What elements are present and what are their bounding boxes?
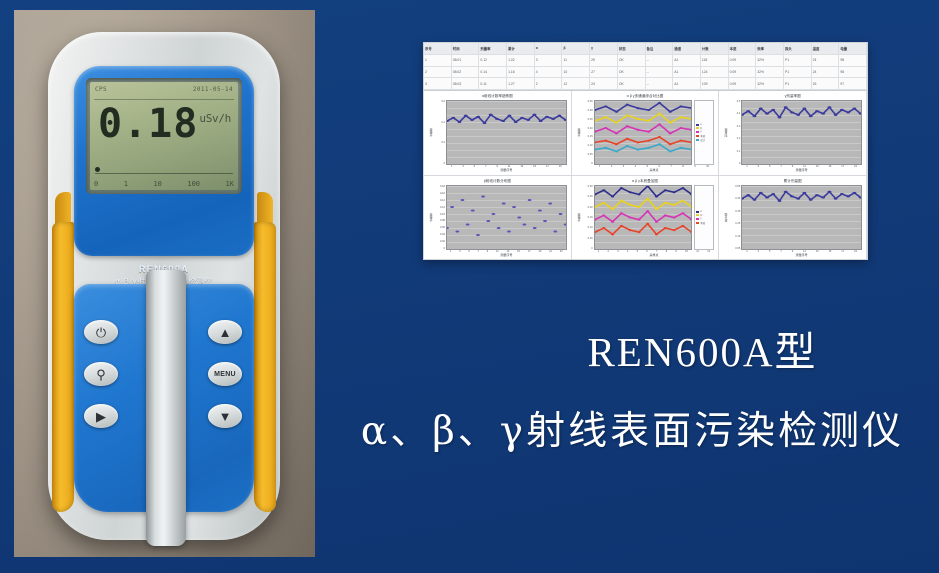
chart-y-tick: 0.3 — [737, 125, 741, 128]
chart-data-point — [853, 192, 857, 194]
light-button[interactable]: ⚲ — [84, 362, 118, 386]
spreadsheet-header-cell[interactable]: 电量 — [839, 43, 867, 54]
chart-y-tick: 0.12 — [440, 206, 445, 209]
spreadsheet-header-cell[interactable]: 剂量率 — [479, 43, 507, 54]
spreadsheet-cell[interactable]: 24 — [812, 67, 840, 78]
chart-data-point — [778, 200, 782, 202]
chart-data-point — [543, 220, 547, 222]
spreadsheet-row: 108:010.121.0231125OK--A11180.0932%P1249… — [424, 55, 867, 67]
spreadsheet-header-cell[interactable]: β — [562, 43, 590, 54]
spreadsheet-cell[interactable]: -- — [646, 67, 674, 78]
chart-y-axis-label: 剂量率 — [723, 100, 729, 165]
chart-data-point — [628, 204, 631, 206]
spreadsheet-cell[interactable]: A1 — [673, 67, 701, 78]
spreadsheet-cell[interactable]: A1 — [673, 55, 701, 66]
chart-data-point — [604, 140, 607, 142]
chart-data-point — [636, 129, 639, 131]
chart-y-ticks: 0.50.40.30.20.10 — [729, 100, 741, 165]
chart-data-point — [491, 213, 495, 215]
chart-data-point — [604, 147, 607, 149]
chart-data-point — [672, 216, 675, 218]
chart-data-point — [753, 115, 757, 117]
legend-swatch-icon — [696, 135, 699, 137]
spreadsheet-cell[interactable]: 0.09 — [729, 78, 757, 89]
chart-data-point — [620, 200, 623, 202]
chart-y-tick: 0.04 — [440, 233, 445, 236]
chart-data-point — [517, 216, 521, 218]
spreadsheet-row: 308:030.111.2721224OK--A11090.0932%P1259… — [424, 78, 867, 90]
chart-data-point — [615, 132, 618, 134]
chart-data-point — [658, 123, 661, 125]
chart-data-point — [647, 147, 650, 149]
spreadsheet-cell[interactable]: 0.14 — [479, 67, 507, 78]
chart-plot-area — [446, 100, 567, 165]
chart-data-point — [455, 230, 459, 232]
chart-alpha-count: α射线计数率趋势图计数率0.60.40.20135791113151719测量序… — [424, 91, 572, 176]
chart-data-point — [672, 204, 675, 206]
spreadsheet-cell[interactable]: 25 — [590, 55, 618, 66]
chart-series-line — [595, 144, 692, 151]
chart-data-point — [672, 229, 675, 231]
chart-y-tick: 0 — [444, 162, 445, 165]
spreadsheet-cell[interactable]: P1 — [784, 78, 812, 89]
chart-data-point — [553, 230, 557, 232]
menu-button-label: MENU — [214, 371, 236, 378]
chart-data-point — [625, 125, 628, 127]
chart-data-point — [840, 109, 844, 111]
chart-plot-area — [594, 185, 693, 250]
chart-panel-grid: α射线计数率趋势图计数率0.60.40.20135791113151719测量序… — [424, 91, 867, 260]
legend-swatch-icon — [696, 218, 699, 220]
chart-data-point — [528, 199, 532, 201]
chart-data-point — [797, 198, 801, 200]
chart-data-point — [853, 108, 857, 110]
chart-body: 计数率0.300.250.200.150.100.050αβγ本底 — [576, 185, 715, 250]
chart-data-point — [840, 193, 844, 195]
spreadsheet-header-cell[interactable]: α — [535, 43, 563, 54]
rubber-grip-left — [52, 222, 74, 512]
spreadsheet-cell[interactable]: 3 — [424, 78, 452, 89]
chart-plot-area — [741, 100, 862, 165]
legend-swatch-icon — [696, 222, 699, 224]
chart-y-tick: 0.25 — [588, 118, 593, 121]
chart-y-axis-label: 计数率 — [576, 185, 582, 250]
chart-data-point — [655, 233, 658, 235]
legend-swatch-icon — [696, 131, 699, 133]
chart-data-point — [809, 115, 813, 117]
chart-total-dose: 累计剂量图累计值0.550.450.350.250.150.0513579111… — [719, 176, 867, 260]
spreadsheet-cell[interactable]: 0.09 — [729, 55, 757, 66]
spreadsheet-header-cell[interactable]: γ — [590, 43, 618, 54]
chart-data-point — [668, 150, 671, 152]
legend-swatch-icon — [696, 214, 699, 216]
chart-data-point — [604, 116, 607, 118]
chart-data-point — [647, 131, 650, 133]
chart-y-tick: 0.35 — [588, 100, 593, 103]
chart-y-tick: 0.16 — [440, 192, 445, 195]
chart-data-point — [611, 196, 614, 198]
chart-series-svg — [742, 186, 861, 249]
spreadsheet-cell[interactable]: -- — [646, 55, 674, 66]
chart-y-tick: 0.2 — [737, 137, 741, 140]
chart-data-point — [564, 223, 566, 225]
spreadsheet-header-cell[interactable]: 时间 — [452, 43, 480, 54]
spreadsheet-header-cell[interactable]: 备注 — [646, 43, 674, 54]
chart-y-tick: 0.14 — [440, 199, 445, 202]
spreadsheet-header-cell[interactable]: 计数 — [701, 43, 729, 54]
power-button[interactable]: ⏻ — [84, 320, 118, 344]
chart-data-point — [551, 118, 555, 120]
chart-data-point — [625, 145, 628, 147]
spreadsheet-header-cell[interactable]: 本底 — [729, 43, 757, 54]
chart-y-tick: 0.20 — [588, 127, 593, 130]
lcd-tick: 0 — [94, 180, 98, 188]
chart-title: α β γ本底叠加图 — [576, 179, 715, 184]
spreadsheet-cell[interactable]: 3 — [535, 55, 563, 66]
chart-x-axis-label: 采样点 — [594, 168, 715, 172]
up-icon: ▲ — [219, 326, 232, 339]
chart-data-point — [655, 221, 658, 223]
chart-data-point — [559, 213, 563, 215]
chart-data-point — [522, 223, 526, 225]
lcd-scale-bar — [95, 169, 233, 174]
spreadsheet-cell[interactable]: A1 — [673, 78, 701, 89]
chart-y-tick: 0.15 — [588, 135, 593, 138]
legend-entry[interactable]: 总计 — [696, 138, 712, 142]
device-handle-strip — [146, 270, 186, 546]
chart-data-point — [533, 114, 537, 116]
chart-data-point — [822, 196, 826, 198]
chart-data-point — [637, 231, 640, 233]
chart-data-point — [501, 120, 505, 122]
legend-entry[interactable]: 本底 — [696, 221, 712, 225]
spreadsheet-cell[interactable]: 2 — [424, 67, 452, 78]
lcd-screen: CPS 2011-05-14 0.18 uSv/h 01101001K — [90, 82, 238, 190]
spreadsheet-header-cell[interactable]: 效率 — [756, 43, 784, 54]
chart-y-tick: 0.15 — [735, 235, 740, 238]
lcd-tick: 100 — [187, 180, 200, 188]
chart-data-point — [822, 113, 826, 115]
chart-data-point — [476, 234, 480, 236]
chart-y-ticks: 0.300.250.200.150.100.050 — [582, 185, 594, 250]
spreadsheet-header-cell[interactable]: 通道 — [673, 43, 701, 54]
spreadsheet-cell[interactable]: 08:02 — [452, 67, 480, 78]
spreadsheet-row: 208:020.141.1641027OK--A11240.0932%P1249… — [424, 67, 867, 79]
chart-data-point — [646, 210, 649, 212]
chart-data-point — [658, 136, 661, 138]
chart-data-point — [747, 110, 751, 112]
chart-data-point — [507, 230, 511, 232]
chart-series-svg — [595, 101, 692, 164]
chart-data-point — [679, 147, 682, 149]
chart-data-point — [803, 192, 807, 194]
chart-series-line — [595, 114, 692, 123]
chart-data-point — [784, 191, 788, 193]
chart-data-point — [615, 150, 618, 152]
spreadsheet-header-cell[interactable]: 累计 — [507, 43, 535, 54]
chart-data-point — [681, 212, 684, 214]
chart-data-point — [668, 132, 671, 134]
chart-series-svg — [447, 101, 566, 164]
chart-data-point — [628, 191, 631, 193]
spreadsheet-cell[interactable]: -- — [646, 78, 674, 89]
chart-data-point — [508, 115, 512, 117]
spreadsheet-header-row: 序号时间剂量率累计αβγ状态备注通道计数本底效率探头温度电量 — [424, 43, 867, 55]
chart-data-point — [497, 227, 501, 229]
spreadsheet-cell[interactable]: 0.09 — [729, 67, 757, 78]
spreadsheet-cell[interactable]: 12 — [562, 78, 590, 89]
chart-data-point — [625, 114, 628, 116]
chart-data-point — [765, 113, 769, 115]
chart-y-axis-label: 累计值 — [723, 185, 729, 250]
light-icon: ⚲ — [96, 368, 106, 381]
spreadsheet-cell[interactable]: 32% — [756, 67, 784, 78]
chart-data-point — [615, 122, 618, 124]
chart-body: 计数率0.60.40.20 — [428, 100, 567, 165]
spreadsheet-cell[interactable]: 1.27 — [507, 78, 535, 89]
chart-body: 剂量率0.50.40.30.20.10 — [723, 100, 862, 165]
spreadsheet-cell[interactable]: 11 — [562, 55, 590, 66]
chart-y-tick: 0 — [739, 162, 740, 165]
chart-y-tick: 0.35 — [735, 210, 740, 213]
chart-stacked-channels: α β γ本底叠加图计数率0.300.250.200.150.100.050αβ… — [572, 176, 720, 260]
spreadsheet-cell[interactable]: 118 — [701, 55, 729, 66]
legend-label: 本底 — [700, 221, 705, 225]
lcd-divider — [94, 99, 234, 100]
spreadsheet-cell[interactable]: 24 — [812, 55, 840, 66]
legend-label: 总计 — [700, 138, 705, 142]
chart-data-point — [514, 121, 518, 123]
spreadsheet-cell[interactable]: P1 — [784, 55, 812, 66]
chart-series-line — [595, 137, 692, 144]
chart-data-point — [486, 220, 490, 222]
chart-data-point — [604, 127, 607, 129]
spreadsheet-cell[interactable]: 32% — [756, 78, 784, 89]
chart-data-point — [647, 120, 650, 122]
chart-data-point — [759, 192, 763, 194]
spreadsheet-cell[interactable]: 0.12 — [479, 55, 507, 66]
spreadsheet-cell[interactable]: 4 — [535, 67, 563, 78]
chart-data-point — [828, 191, 832, 193]
chart-data-point — [628, 229, 631, 231]
legend-swatch-icon — [696, 211, 699, 213]
chart-y-tick: 0 — [444, 247, 445, 250]
chart-data-point — [797, 114, 801, 116]
chart-y-tick: 0.30 — [588, 109, 593, 112]
chart-plot-area — [446, 185, 567, 250]
chart-data-point — [679, 140, 682, 142]
chart-data-point — [637, 219, 640, 221]
lcd-reading-unit: uSv/h — [199, 112, 231, 125]
chart-y-tick: 0.5 — [737, 100, 741, 103]
chart-data-point — [604, 105, 607, 107]
menu-button[interactable]: MENU — [208, 362, 242, 386]
chart-y-axis-label: 计数率 — [428, 185, 434, 250]
spreadsheet-cell[interactable]: OK — [618, 67, 646, 78]
spreadsheet-cell[interactable]: 2 — [535, 78, 563, 89]
chart-data-point — [681, 225, 684, 227]
chart-series-svg — [595, 186, 692, 249]
spreadsheet-header-cell[interactable]: 序号 — [424, 43, 452, 54]
spreadsheet-cell[interactable]: 08:03 — [452, 78, 480, 89]
chart-data-point — [620, 187, 623, 189]
chart-data-point — [663, 189, 666, 191]
spreadsheet-header-cell[interactable]: 温度 — [812, 43, 840, 54]
chart-data-point — [663, 214, 666, 216]
spreadsheet-cell[interactable]: 98 — [839, 55, 867, 66]
chart-y-ticks: 0.550.450.350.250.150.05 — [729, 185, 741, 250]
lcd-bezel: CPS 2011-05-14 0.18 uSv/h 01101001K — [86, 78, 242, 194]
spreadsheet-cell[interactable]: 24 — [590, 78, 618, 89]
chart-y-tick: 0.06 — [440, 226, 445, 229]
spreadsheet-cell[interactable]: OK — [618, 55, 646, 66]
spreadsheet-cell[interactable]: 97 — [839, 78, 867, 89]
chart-data-point — [602, 189, 605, 191]
chart-data-point — [502, 203, 506, 205]
chart-data-point — [778, 116, 782, 118]
spreadsheet-cell[interactable]: 1.16 — [507, 67, 535, 78]
spreadsheet-cell[interactable]: 124 — [701, 67, 729, 78]
chart-x-axis-label: 测量序号 — [741, 253, 862, 257]
chart-data-point — [847, 195, 851, 197]
legend-label: 本底 — [700, 134, 705, 138]
chart-data-point — [658, 113, 661, 115]
chart-data-point — [668, 143, 671, 145]
spreadsheet-cell[interactable]: P1 — [784, 67, 812, 78]
up-button[interactable]: ▲ — [208, 320, 242, 344]
chart-data-point — [545, 116, 549, 118]
chart-data-point — [636, 107, 639, 109]
lcd-status-left: CPS — [95, 86, 107, 93]
chart-data-point — [620, 212, 623, 214]
lcd-scale-ticks: 01101001K — [94, 180, 234, 188]
chart-y-tick: 0.02 — [440, 240, 445, 243]
chart-series-line — [595, 211, 692, 222]
chart-data-point — [636, 141, 639, 143]
chart-data-point — [672, 191, 675, 193]
chart-data-point — [753, 199, 757, 201]
chart-series-line — [595, 199, 692, 210]
title-block: REN600A型 α、β、γ射线表面污染检测仪 — [326, 318, 939, 498]
chart-data-point — [790, 195, 794, 197]
chart-data-point — [470, 119, 474, 121]
chart-body: 计数率0.180.160.140.120.100.080.060.040.020 — [428, 185, 567, 250]
chart-data-point — [450, 206, 454, 208]
chart-data-point — [834, 198, 838, 200]
chart-data-point — [611, 233, 614, 235]
legend-swatch-icon — [696, 124, 699, 126]
chart-title: α射线计数率趋势图 — [428, 94, 567, 99]
play-icon: ▶ — [96, 410, 106, 423]
product-model-title: REN600A型 — [466, 318, 939, 378]
chart-data-point — [679, 127, 682, 129]
chart-data-point — [620, 225, 623, 227]
chart-data-point — [828, 106, 832, 108]
lcd-tick: 1 — [124, 180, 128, 188]
chart-data-point — [481, 196, 485, 198]
chart-data-point — [646, 223, 649, 225]
chart-data-point — [548, 203, 552, 205]
chart-data-point — [803, 108, 807, 110]
spreadsheet-cell[interactable]: OK — [618, 78, 646, 89]
chart-y-ticks: 0.350.300.250.200.150.100.050 — [582, 100, 594, 165]
chart-y-tick: 0.1 — [737, 150, 741, 153]
chart-data-point — [471, 209, 475, 211]
chart-legend: αβγ本底总计 — [694, 100, 714, 165]
spreadsheet-cell[interactable]: 0.11 — [479, 78, 507, 89]
chart-data-point — [663, 227, 666, 229]
chart-data-point — [663, 202, 666, 204]
chart-data-point — [495, 118, 499, 120]
lcd-status-bar: CPS 2011-05-14 — [95, 86, 233, 93]
chart-data-point — [847, 111, 851, 113]
play-button[interactable]: ▶ — [84, 404, 118, 428]
device-photo: CPS 2011-05-14 0.18 uSv/h 01101001K — [14, 10, 315, 557]
chart-y-tick: 0.20 — [588, 206, 593, 209]
chart-y-tick: 0.10 — [588, 144, 593, 147]
spreadsheet-cell[interactable]: 1.02 — [507, 55, 535, 66]
spreadsheet-cell[interactable]: 98 — [839, 67, 867, 78]
spreadsheet-cell[interactable]: 32% — [756, 55, 784, 66]
down-button[interactable]: ▼ — [208, 404, 242, 428]
chart-data-point — [615, 143, 618, 145]
spreadsheet-cell[interactable]: 27 — [590, 67, 618, 78]
chart-data-point — [809, 199, 813, 201]
chart-body: 计数率0.350.300.250.200.150.100.050αβγ本底总计 — [576, 100, 715, 165]
chart-data-point — [557, 115, 561, 117]
chart-data-point — [476, 116, 480, 118]
spreadsheet-cell[interactable]: 1 — [424, 55, 452, 66]
chart-series-svg — [447, 186, 566, 249]
chart-y-tick: 0.15 — [588, 216, 593, 219]
chart-y-tick: 0.05 — [588, 153, 593, 156]
spreadsheet-cell[interactable]: 25 — [812, 78, 840, 89]
chart-y-tick: 0.10 — [440, 213, 445, 216]
chart-data-point — [790, 111, 794, 113]
chart-data-point — [464, 115, 468, 117]
chart-title: β射线计数分布图 — [428, 179, 567, 184]
chart-data-point — [747, 194, 751, 196]
chart-title: α β γ多通道综合对比图 — [576, 94, 715, 99]
chart-data-point — [681, 200, 684, 202]
chart-beta-scatter: β射线计数分布图计数率0.180.160.140.120.100.080.060… — [424, 176, 572, 260]
data-spreadsheet: 序号时间剂量率累计αβγ状态备注通道计数本底效率探头温度电量108:010.12… — [424, 43, 867, 91]
chart-plot-area — [594, 100, 693, 165]
chart-data-point — [451, 117, 455, 119]
spreadsheet-header-cell[interactable]: 探头 — [784, 43, 812, 54]
spreadsheet-cell[interactable]: 109 — [701, 78, 729, 89]
chart-data-point — [772, 193, 776, 195]
chart-x-axis-label: 测量序号 — [741, 168, 862, 172]
spreadsheet-header-cell[interactable]: 状态 — [618, 43, 646, 54]
legend-entry[interactable]: 本底 — [696, 134, 712, 138]
chart-y-tick: 0.25 — [588, 195, 593, 198]
chart-data-point — [681, 187, 684, 189]
chart-gamma-dose: γ剂量率图剂量率0.50.40.30.20.10135791113151719测… — [719, 91, 867, 176]
chart-series-line — [595, 224, 692, 235]
rubber-grip-right — [254, 222, 276, 512]
lcd-scale-marker-icon — [95, 167, 100, 172]
chart-data-point — [679, 105, 682, 107]
lcd-status-right: 2011-05-14 — [193, 86, 233, 93]
chart-y-tick: 0.05 — [588, 237, 593, 240]
chart-data-point — [636, 149, 639, 151]
chart-data-point — [655, 208, 658, 210]
legend-swatch-icon — [696, 139, 699, 141]
spreadsheet-cell[interactable]: 10 — [562, 67, 590, 78]
spreadsheet-cell[interactable]: 08:01 — [452, 55, 480, 66]
chart-data-point — [815, 194, 819, 196]
